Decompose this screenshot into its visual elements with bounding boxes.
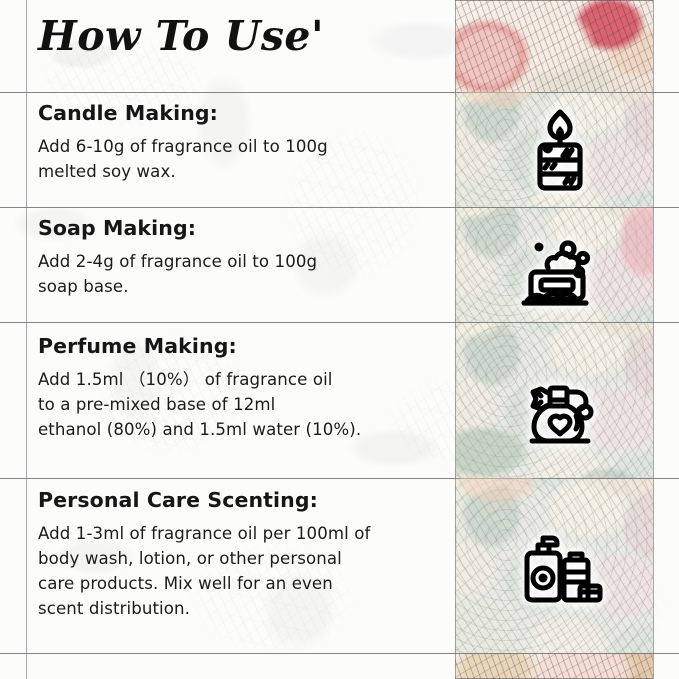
body-line: Add 2-4g of fragrance oil to 100g — [38, 249, 438, 274]
divider-after-personalcare — [0, 653, 679, 654]
body-line: soap base. — [38, 274, 438, 299]
section-body: Add 1.5ml （10%） of fragrance oil to a pr… — [38, 367, 438, 442]
photo-column-right-rule — [653, 0, 654, 679]
section-perfume-making: Perfume Making: Add 1.5ml （10%） of fragr… — [38, 334, 438, 442]
section-soap-making: Soap Making: Add 2-4g of fragrance oil t… — [38, 216, 438, 299]
photo-band-rose-bottom — [455, 653, 653, 679]
section-heading: Perfume Making: — [38, 334, 438, 358]
photo-band-perfume — [455, 322, 653, 478]
how-to-use-infographic: How To Use' Candle Making: Add 6-10g of … — [0, 0, 679, 679]
left-margin-rule — [26, 0, 27, 679]
section-heading: Personal Care Scenting: — [38, 488, 438, 512]
page-title: How To Use' — [38, 12, 324, 60]
body-line: ethanol (80%) and 1.5ml water (10%). — [38, 417, 438, 442]
section-body: Add 2-4g of fragrance oil to 100g soap b… — [38, 249, 438, 299]
body-line: Add 1.5ml （10%） of fragrance oil — [38, 367, 438, 392]
body-line: to a pre-mixed base of 12ml — [38, 392, 438, 417]
body-line: care products. Mix well for an even — [38, 571, 438, 596]
body-line: Add 1-3ml of fragrance oil per 100ml of — [38, 521, 438, 546]
section-heading: Candle Making: — [38, 101, 438, 125]
photo-band-candle — [455, 92, 653, 207]
body-line: scent distribution. — [38, 596, 438, 621]
photo-band-soap — [455, 207, 653, 322]
photo-band-rose-top — [455, 0, 653, 92]
photo-band-personal-care — [455, 478, 653, 653]
body-line: body wash, lotion, or other personal — [38, 546, 438, 571]
section-body: Add 6-10g of fragrance oil to 100g melte… — [38, 134, 438, 184]
body-line: melted soy wax. — [38, 159, 438, 184]
section-personal-care-scenting: Personal Care Scenting: Add 1-3ml of fra… — [38, 488, 438, 621]
body-line: Add 6-10g of fragrance oil to 100g — [38, 134, 438, 159]
section-body: Add 1-3ml of fragrance oil per 100ml of … — [38, 521, 438, 621]
section-candle-making: Candle Making: Add 6-10g of fragrance oi… — [38, 101, 438, 184]
section-heading: Soap Making: — [38, 216, 438, 240]
photo-column — [455, 0, 653, 679]
